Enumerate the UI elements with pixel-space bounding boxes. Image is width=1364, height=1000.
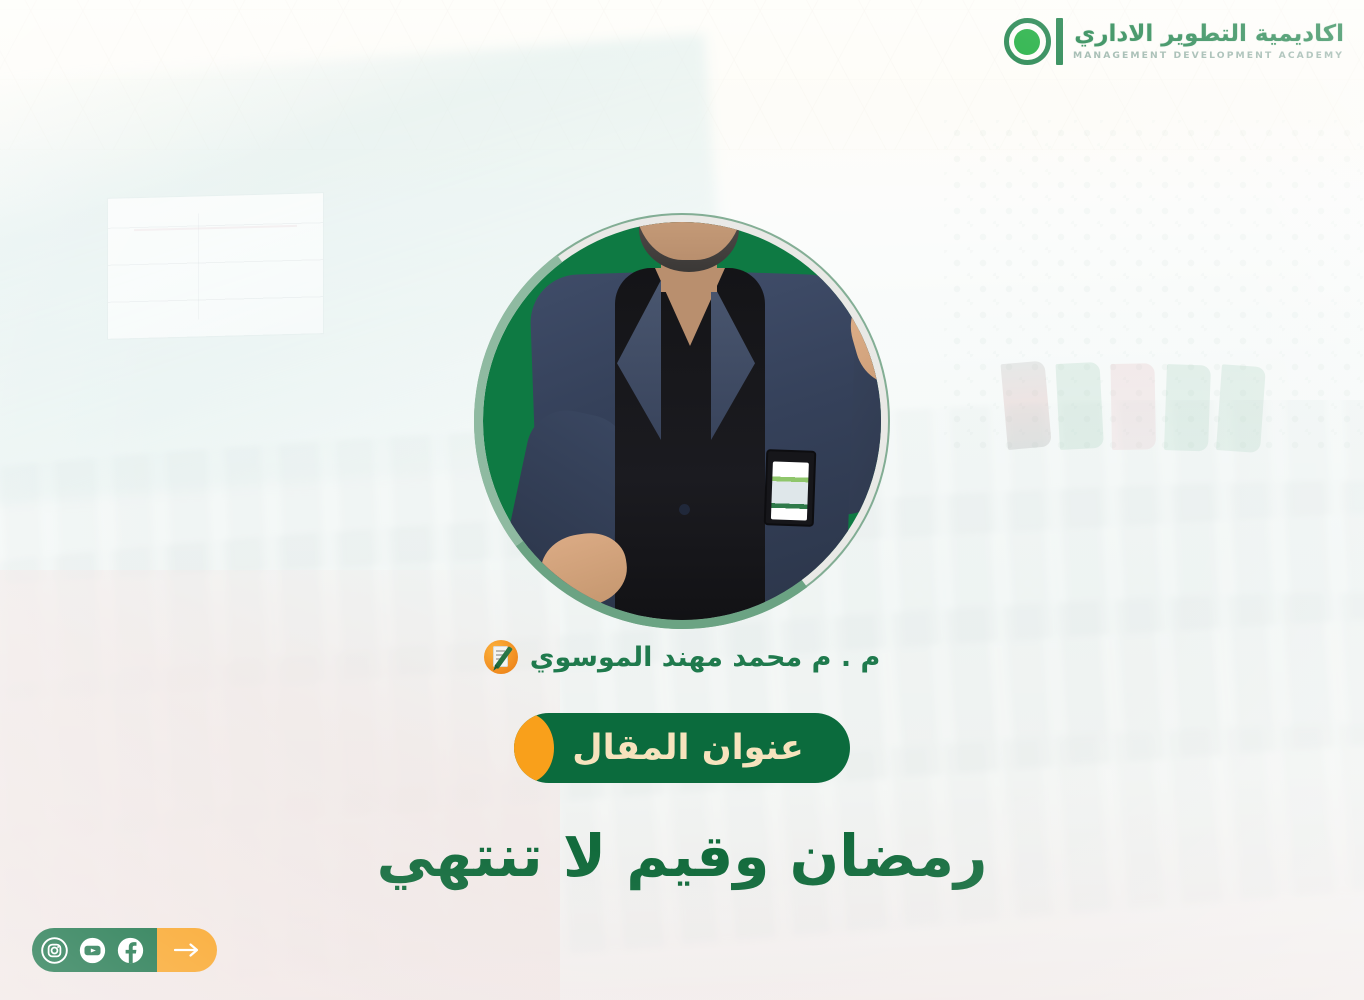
speaker-jacket-button: [679, 504, 690, 515]
logo-dot-shape: [1014, 29, 1040, 55]
article-title: رمضان وقيم لا تنتهي: [0, 820, 1364, 893]
academy-logo: اكاديمية التطوير الاداري MANAGEMENT DEVE…: [1004, 18, 1344, 65]
badge-orange-accent-shape: [514, 713, 554, 783]
logo-bar-shape: [1056, 18, 1063, 65]
academy-name-english: MANAGEMENT DEVELOPMENT ACADEMY: [1073, 51, 1344, 60]
youtube-icon[interactable]: [79, 937, 106, 964]
speaker-id-badge: [764, 449, 817, 527]
concentric-circle-logo-icon: [1004, 18, 1063, 65]
poster-canvas: اكاديمية التطوير الاداري MANAGEMENT DEVE…: [0, 0, 1364, 1000]
facebook-icon[interactable]: [117, 937, 144, 964]
social-bar[interactable]: [32, 928, 217, 972]
author-line: م . م محمد مهند الموسوي: [0, 640, 1364, 674]
article-title-badge-label: عنوان المقال: [572, 728, 804, 768]
article-title-badge: عنوان المقال: [514, 713, 850, 783]
logo-ring-shape: [1004, 18, 1051, 65]
instagram-icon[interactable]: [41, 937, 68, 964]
author-name: م . م محمد مهند الموسوي: [530, 642, 881, 673]
article-pencil-icon: [484, 640, 518, 674]
portrait-image-clip: [483, 222, 881, 620]
social-icon-group: [32, 928, 157, 972]
article-title-badge-wrap: عنوان المقال: [0, 713, 1364, 783]
academy-name-arabic: اكاديمية التطوير الاداري: [1073, 23, 1344, 46]
speaker-shirt: [615, 268, 765, 620]
speaker-portrait: [483, 222, 881, 620]
arrow-right-icon[interactable]: [157, 928, 217, 972]
speaker-figure: [483, 222, 881, 620]
academy-logo-text: اكاديمية التطوير الاداري MANAGEMENT DEVE…: [1073, 23, 1344, 60]
